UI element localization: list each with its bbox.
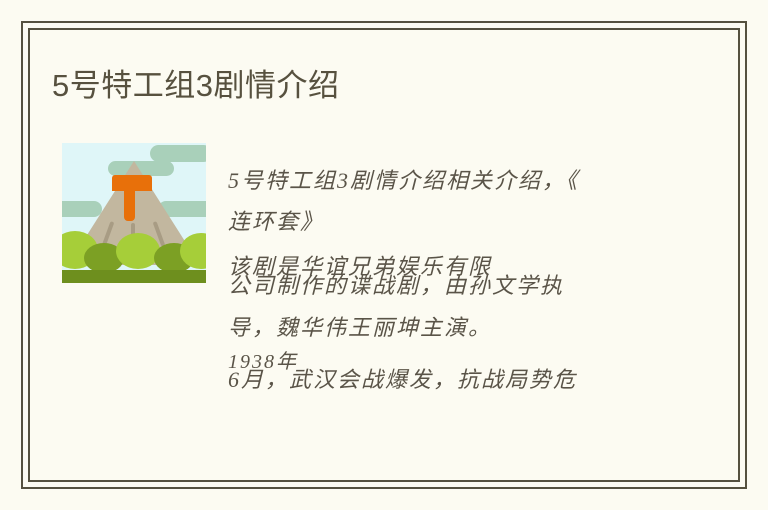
ground-strip	[62, 270, 206, 283]
body-line: 5号特工组3剧情介绍相关介绍，《	[228, 163, 579, 195]
lava-flow-shape	[124, 187, 135, 221]
page-title: 5号特工组3剧情介绍	[52, 66, 339, 106]
cloud-icon	[150, 145, 206, 162]
article-page: 5号特工组3剧情介绍 5号特工组3剧情介绍相关介绍，《 连环套》 该剧是华谊兄弟…	[0, 0, 768, 510]
body-line: 公司制作的谍战剧，由孙文学执	[228, 268, 564, 300]
volcano-illustration	[62, 143, 206, 283]
body-line: 6月，武汉会战爆发，抗战局势危	[228, 362, 577, 394]
body-line: 连环套》	[228, 204, 324, 236]
body-line: 导，魏华伟王丽坤主演。	[228, 310, 492, 342]
bush-shape	[116, 233, 160, 269]
